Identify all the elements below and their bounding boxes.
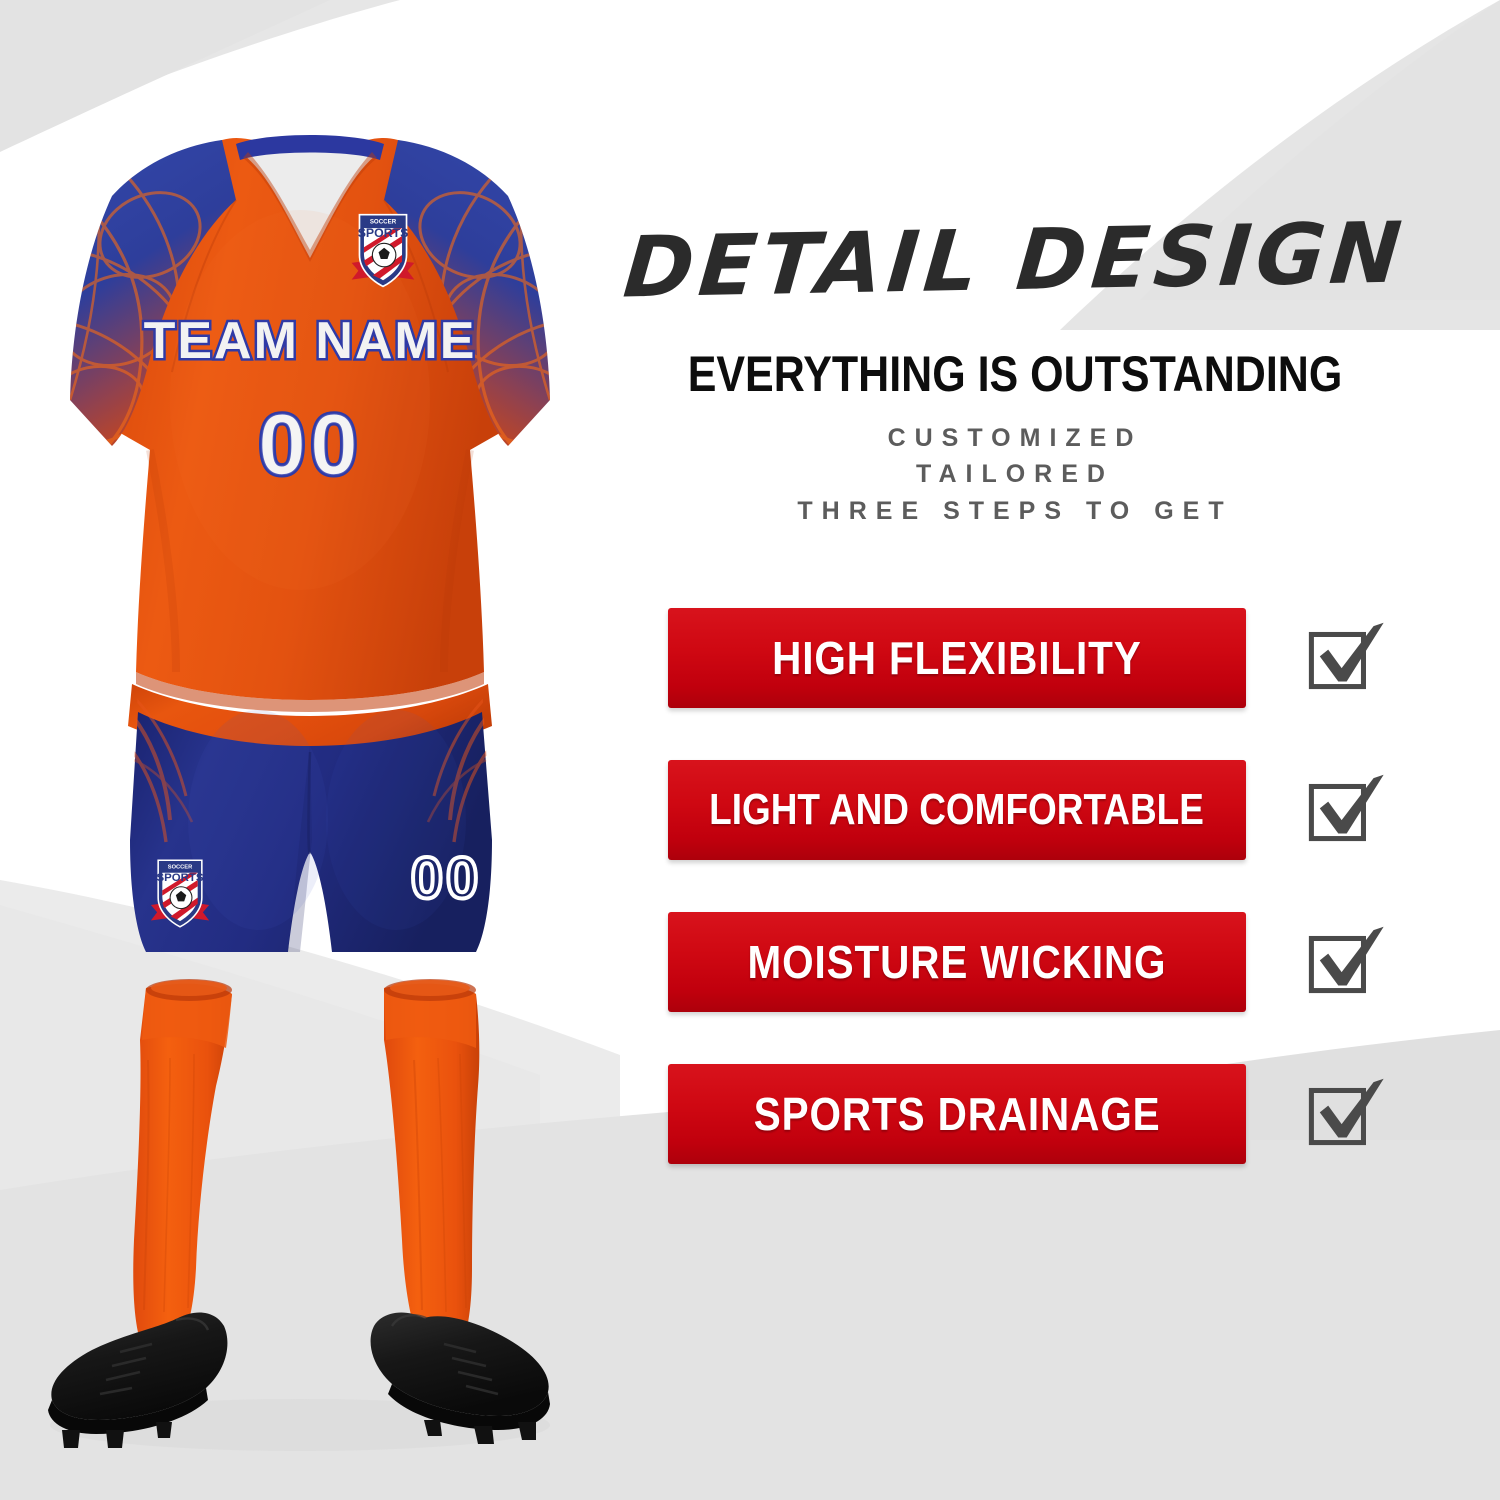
feature-row: SPORTS DRAINAGE bbox=[668, 1064, 1468, 1164]
checkbox-checked-icon[interactable] bbox=[1303, 768, 1387, 852]
checkbox-checked-icon[interactable] bbox=[1303, 616, 1387, 700]
shorts: SOCCER SPORTS 00 bbox=[108, 684, 512, 952]
svg-text:SOCCER: SOCCER bbox=[168, 865, 193, 871]
feature-banner-light-and-comfortable[interactable]: LIGHT AND COMFORTABLE bbox=[668, 760, 1246, 860]
jersey-number-inner-line: 00 bbox=[258, 397, 362, 493]
soccer-kit-illustration: SOCCER SPORTS TEAM NAME 00 00 bbox=[0, 0, 620, 1500]
feature-list: HIGH FLEXIBILITY LIGHT AND COMFORTABLE bbox=[668, 608, 1468, 1216]
tagline-3: THREE STEPS TO GET bbox=[620, 493, 1410, 529]
checkbox-checked-icon[interactable] bbox=[1303, 920, 1387, 1004]
shorts-badge: SOCCER SPORTS bbox=[151, 860, 209, 927]
tagline-2: TAILORED bbox=[620, 456, 1410, 492]
feature-row: MOISTURE WICKING bbox=[668, 912, 1468, 1012]
feature-row: LIGHT AND COMFORTABLE bbox=[668, 760, 1468, 860]
feature-label: MOISTURE WICKING bbox=[748, 935, 1167, 989]
tagline-1: CUSTOMIZED bbox=[620, 420, 1410, 456]
product-marketing-image: SOCCER SPORTS TEAM NAME 00 00 bbox=[0, 0, 1500, 1500]
cleats bbox=[48, 1312, 550, 1448]
socks bbox=[133, 979, 479, 1344]
marketing-panel: DETAIL DESIGN EVERYTHING IS OUTSTANDING … bbox=[620, 0, 1500, 1500]
feature-label: HIGH FLEXIBILITY bbox=[772, 631, 1141, 685]
page-title: DETAIL DESIGN bbox=[616, 210, 1415, 309]
feature-banner-moisture-wicking[interactable]: MOISTURE WICKING bbox=[668, 912, 1246, 1012]
tagline-group: CUSTOMIZED TAILORED THREE STEPS TO GET bbox=[620, 420, 1410, 529]
jersey-team-name: TEAM NAME bbox=[144, 312, 477, 370]
feature-banner-sports-drainage[interactable]: SPORTS DRAINAGE bbox=[668, 1064, 1246, 1164]
feature-row: HIGH FLEXIBILITY bbox=[668, 608, 1468, 708]
svg-text:SPORTS: SPORTS bbox=[156, 872, 203, 884]
jersey: SOCCER SPORTS TEAM NAME 00 00 bbox=[38, 135, 582, 712]
checkbox-checked-icon[interactable] bbox=[1303, 1072, 1387, 1156]
feature-banner-high-flexibility[interactable]: HIGH FLEXIBILITY bbox=[668, 608, 1246, 708]
feature-label: SPORTS DRAINAGE bbox=[754, 1087, 1161, 1141]
chest-badge: SOCCER SPORTS bbox=[352, 215, 415, 287]
page-subtitle: EVERYTHING IS OUTSTANDING bbox=[675, 345, 1354, 403]
product-visual: SOCCER SPORTS TEAM NAME 00 00 bbox=[0, 0, 620, 1500]
badge-top-text: SOCCER bbox=[370, 219, 397, 226]
feature-label: LIGHT AND COMFORTABLE bbox=[710, 785, 1205, 835]
badge-main-text: SPORTS bbox=[358, 226, 409, 240]
shorts-number: 00 bbox=[411, 846, 482, 911]
